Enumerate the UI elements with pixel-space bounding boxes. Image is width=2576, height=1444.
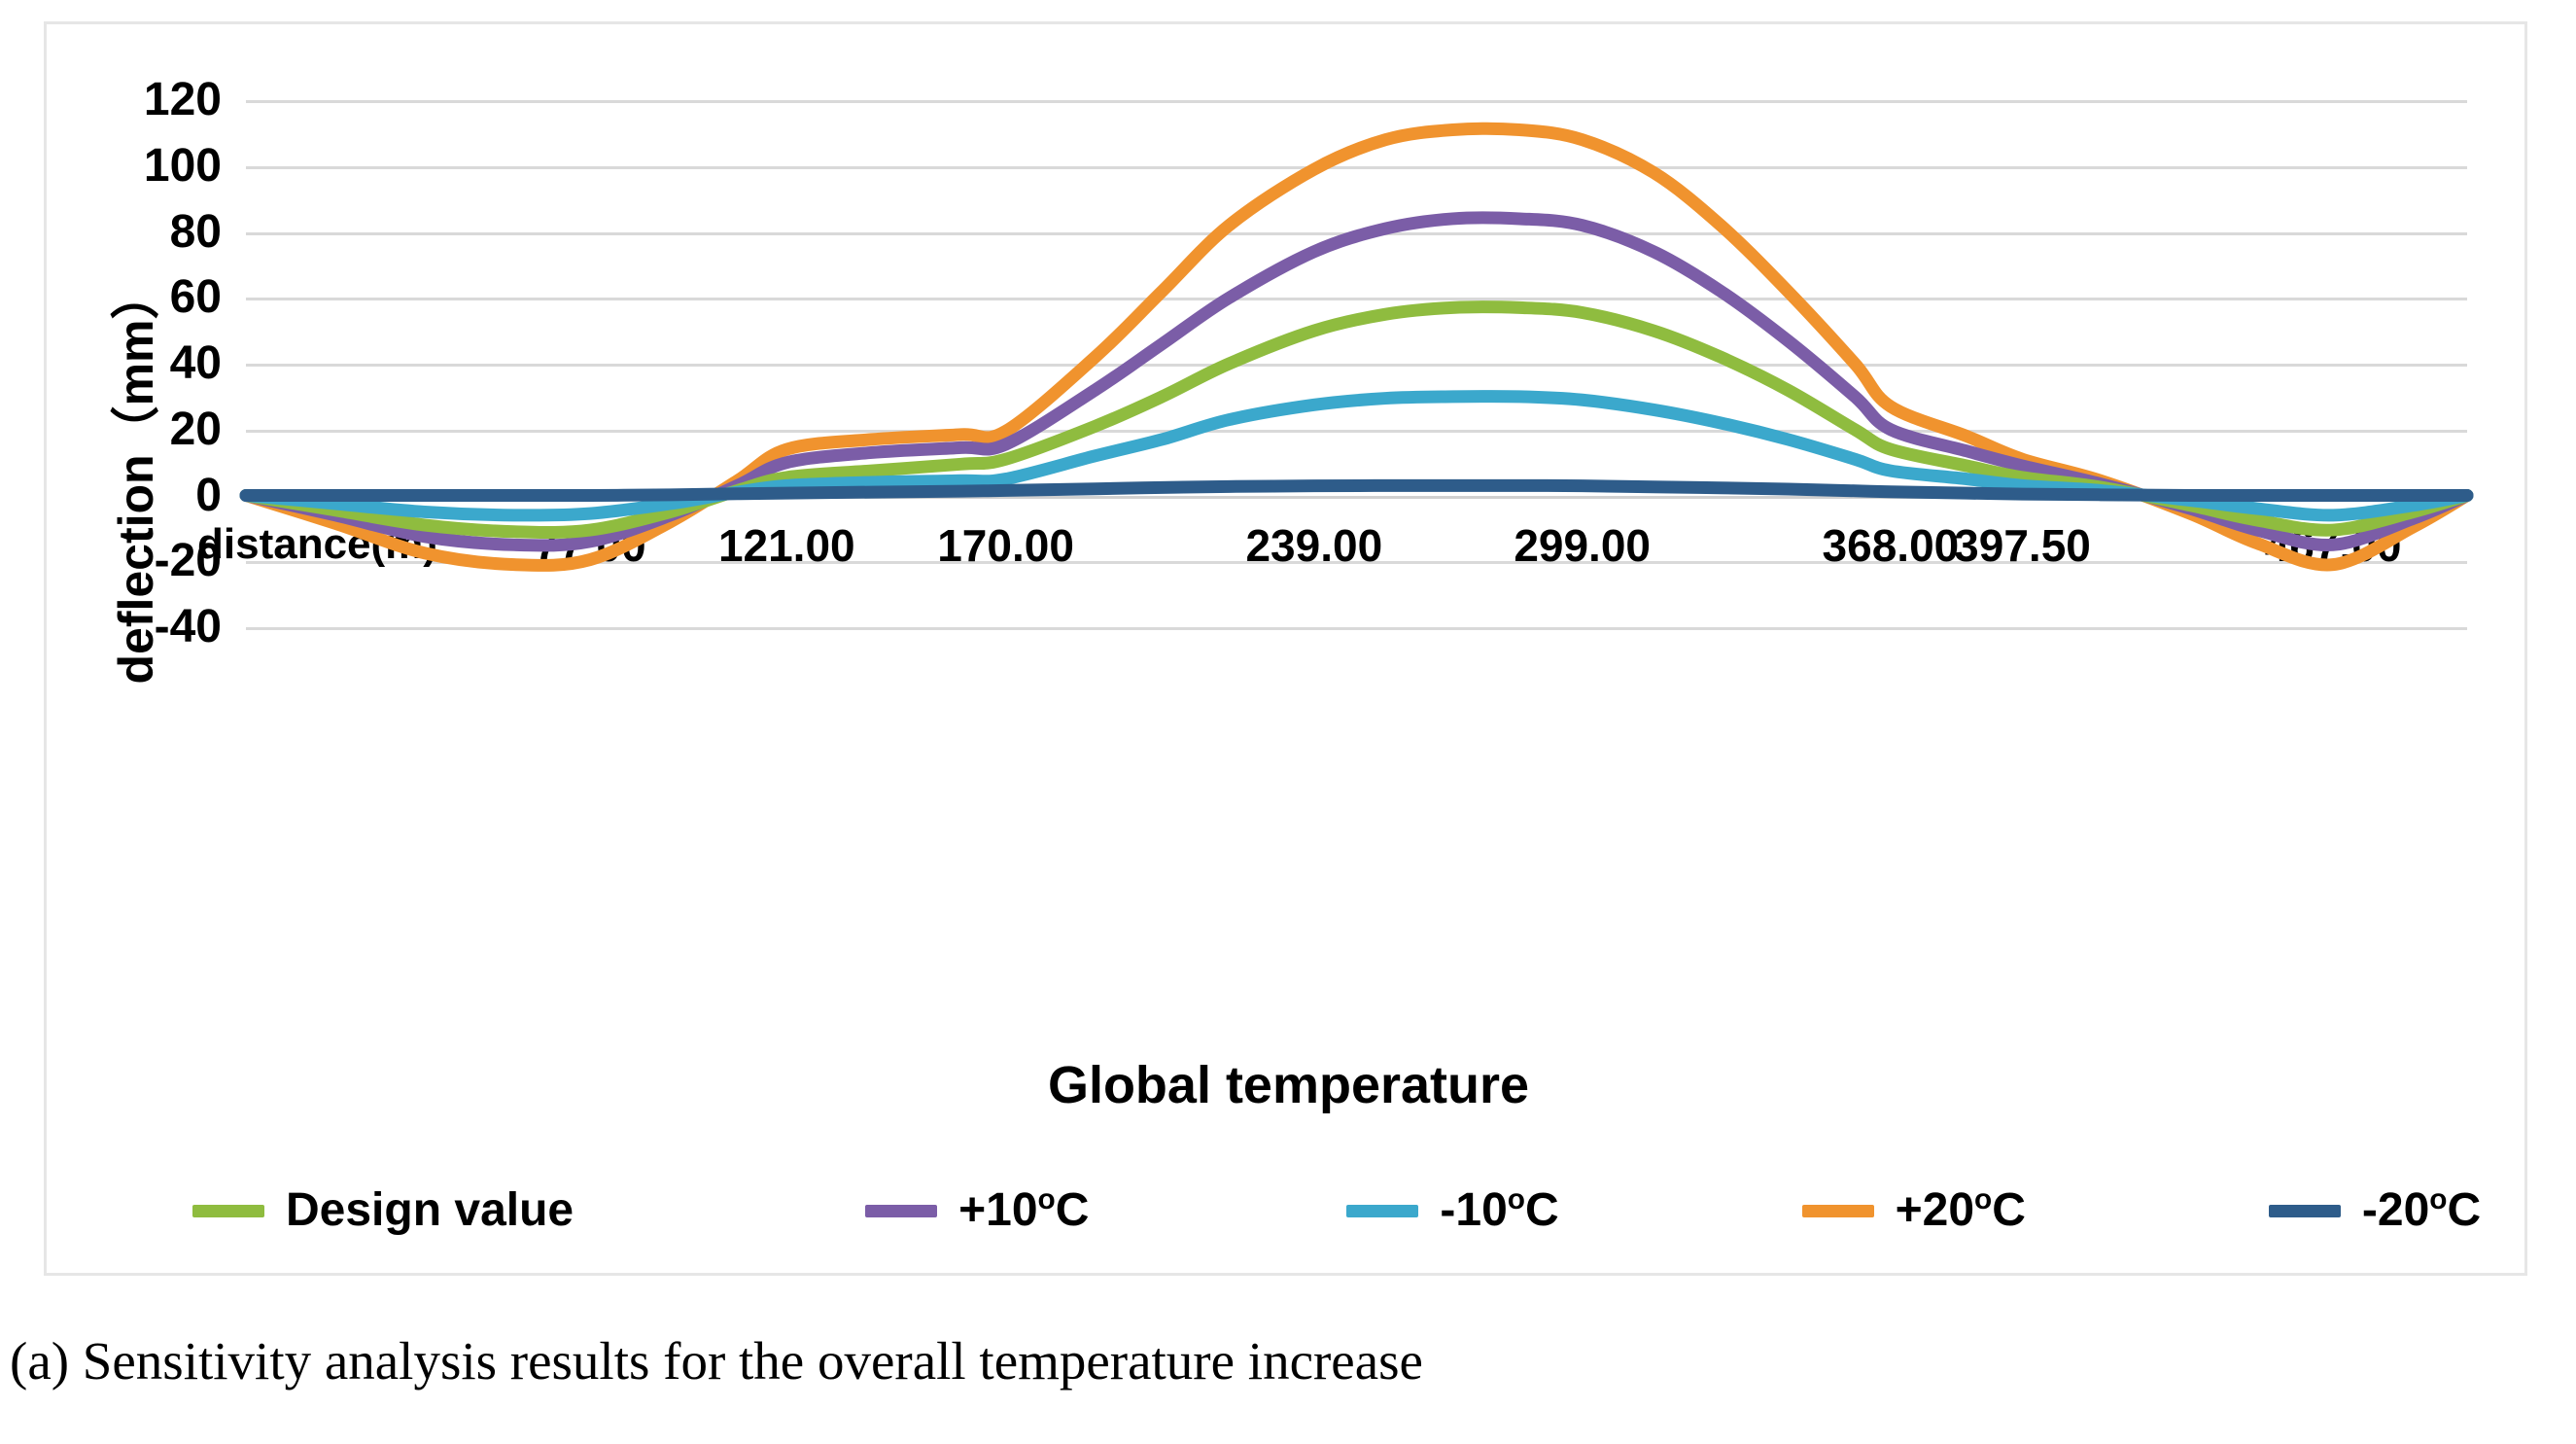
legend-item-label: +10oC [958, 1187, 1089, 1234]
legend-item[interactable]: Design value [192, 1187, 574, 1234]
legend-color-swatch [1346, 1205, 1418, 1217]
figure-panel: deflection（mm） 120100806040200-20-40 77.… [0, 0, 2576, 1444]
legend-item-label: Design value [286, 1187, 574, 1234]
legend-color-swatch [865, 1205, 937, 1217]
chart-legend: Design value+10oC-10oC+20oC-20oC [192, 1167, 2428, 1254]
legend-color-swatch [1802, 1205, 1874, 1217]
legend-item[interactable]: -10oC [1346, 1187, 1558, 1234]
legend-item-label: -20oC [2362, 1187, 2481, 1234]
legend-item[interactable]: +20oC [1802, 1187, 2026, 1234]
legend-item[interactable]: +10oC [865, 1187, 1089, 1234]
figure-caption: (a) Sensitivity analysis results for the… [10, 1330, 1423, 1391]
legend-item-label: -10oC [1440, 1187, 1558, 1234]
x-axis-title: Global temperature [47, 1055, 2530, 1115]
legend-item[interactable]: -20oC [2269, 1187, 2481, 1234]
legend-item-label: +20oC [1896, 1187, 2026, 1234]
legend-color-swatch [192, 1205, 264, 1217]
chart-frame: deflection（mm） 120100806040200-20-40 77.… [44, 21, 2527, 1276]
legend-color-swatch [2269, 1205, 2341, 1217]
